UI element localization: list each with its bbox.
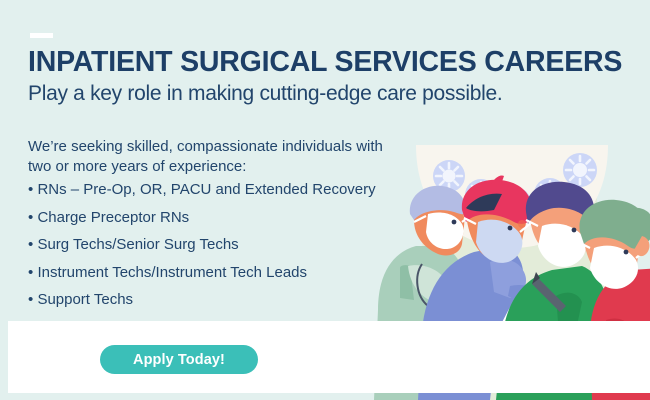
list-item: • RNs – Pre-Op, OR, PACU and Extended Re…	[28, 182, 398, 197]
bullet-icon: •	[28, 236, 33, 253]
bullet-icon: •	[28, 209, 33, 226]
page-title: INPATIENT SURGICAL SERVICES CAREERS	[28, 48, 622, 77]
list-item: • Instrument Techs/Instrument Tech Leads	[28, 265, 398, 280]
list-item-label: Support Techs	[37, 291, 133, 308]
list-item-label: Surg Techs/Senior Surg Techs	[37, 236, 238, 253]
list-item: • Surg Techs/Senior Surg Techs	[28, 237, 398, 252]
job-list: • RNs – Pre-Op, OR, PACU and Extended Re…	[28, 182, 398, 320]
bullet-icon: •	[28, 181, 33, 198]
bullet-icon: •	[28, 264, 33, 281]
bullet-icon: •	[28, 291, 33, 308]
career-banner: INPATIENT SURGICAL SERVICES CAREERS Play…	[0, 0, 650, 400]
intro-text: We’re seeking skilled, compassionate ind…	[28, 137, 388, 177]
page-subtitle: Play a key role in making cutting-edge c…	[28, 83, 502, 104]
list-item-label: Instrument Techs/Instrument Tech Leads	[37, 264, 307, 281]
list-item-label: Charge Preceptor RNs	[37, 209, 189, 226]
accent-rule	[30, 33, 53, 38]
apply-today-button[interactable]: Apply Today!	[100, 345, 258, 374]
text-column: INPATIENT SURGICAL SERVICES CAREERS Play…	[0, 0, 420, 400]
list-item-label: RNs – Pre-Op, OR, PACU and Extended Reco…	[37, 181, 375, 198]
list-item: • Charge Preceptor RNs	[28, 210, 398, 225]
lamp-bulb	[563, 153, 597, 187]
list-item: • Support Techs	[28, 292, 398, 307]
